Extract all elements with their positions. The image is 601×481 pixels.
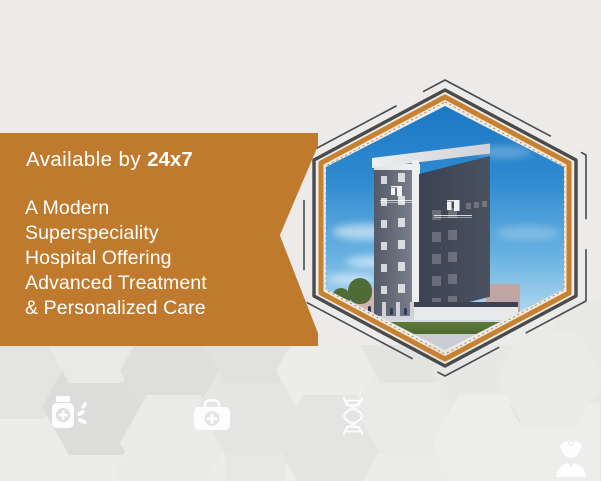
- banner-headline: Available by 24x7: [26, 148, 193, 172]
- window: [398, 173, 405, 182]
- subhead-line-5: & Personalized Care: [25, 296, 290, 321]
- window: [448, 252, 457, 262]
- dna-helix-icon: [340, 396, 366, 436]
- doctor-icon: [553, 435, 589, 477]
- entrance-column: [396, 302, 400, 318]
- hero-hexagon: [300, 78, 590, 378]
- window: [398, 218, 405, 227]
- window: [398, 240, 405, 249]
- building-logo-right: [434, 200, 472, 218]
- medicine-bottle-icon: [48, 394, 92, 434]
- window: [432, 232, 441, 242]
- entrance-canopy: [414, 302, 518, 307]
- window: [381, 286, 387, 294]
- window: [432, 254, 441, 264]
- person: [404, 308, 407, 315]
- subhead-line-3: Hospital Offering: [25, 246, 290, 271]
- window: [381, 176, 387, 184]
- subhead-line-2: Superspeciality: [25, 221, 290, 246]
- entrance-column: [382, 302, 386, 318]
- banner-graphic: Available by 24x7 A Modern Superspeciali…: [0, 0, 601, 481]
- subhead-line-1: A Modern: [25, 196, 290, 221]
- window: [448, 274, 457, 284]
- first-aid-kit-icon: [192, 398, 232, 432]
- person: [390, 308, 393, 315]
- entrance-column: [410, 302, 414, 318]
- building-logo-left: [380, 186, 414, 203]
- window: [482, 201, 487, 207]
- banner-text-block: Available by 24x7 A Modern Superspeciali…: [0, 133, 318, 346]
- headline-prefix: Available by: [26, 148, 147, 171]
- window: [398, 262, 405, 271]
- subhead-line-4: Advanced Treatment: [25, 271, 290, 296]
- window: [381, 220, 387, 228]
- window: [432, 276, 441, 286]
- tree: [348, 278, 372, 304]
- window: [381, 242, 387, 250]
- window: [448, 230, 457, 240]
- window: [474, 202, 479, 208]
- tower-vertical-edge: [412, 160, 419, 316]
- entrance-podium: [414, 306, 518, 320]
- window: [398, 284, 405, 293]
- window: [381, 264, 387, 272]
- banner-subheadline: A Modern Superspeciality Hospital Offeri…: [25, 196, 290, 321]
- cloud: [496, 226, 560, 240]
- headline-highlight: 24x7: [147, 148, 193, 171]
